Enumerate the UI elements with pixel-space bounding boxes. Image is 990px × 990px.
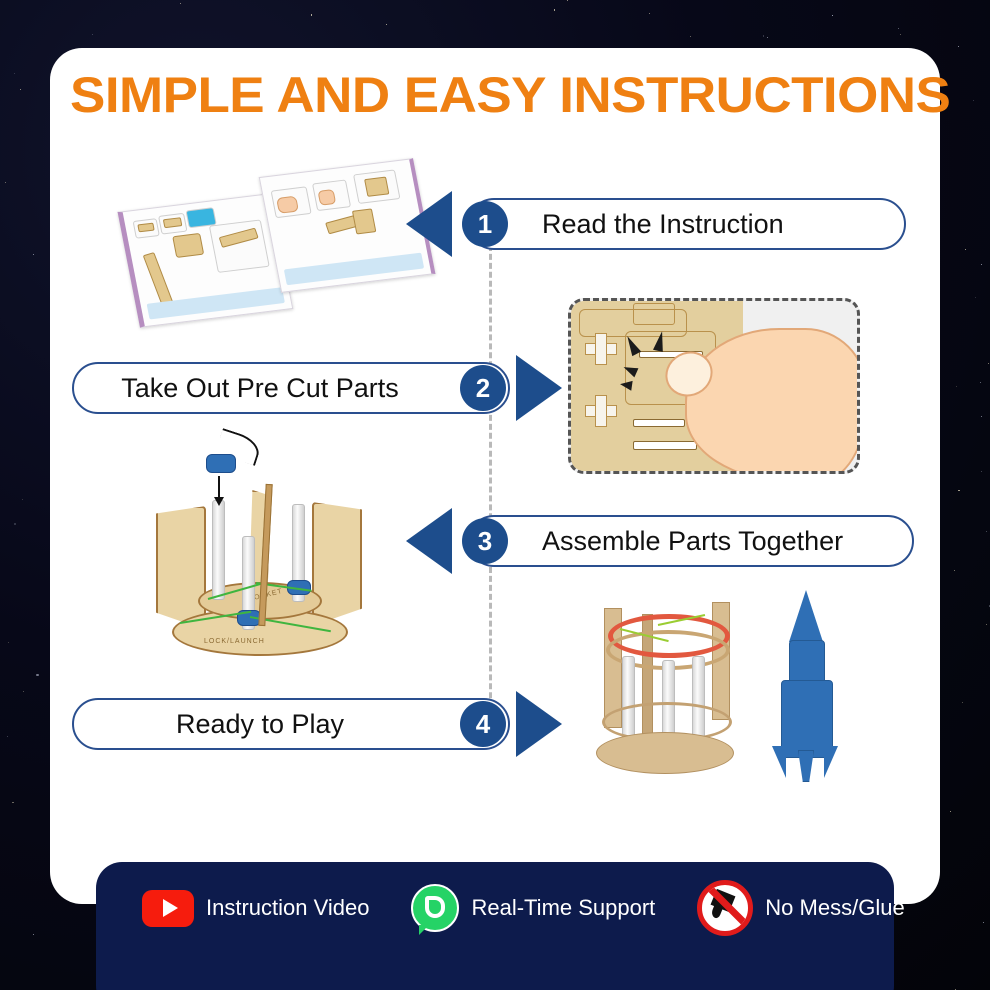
- footer-label-instruction-video: Instruction Video: [206, 895, 369, 921]
- dashed-frame: [568, 298, 860, 474]
- youtube-icon: [142, 890, 194, 927]
- launcher-assembly-diagram: LOCK/LAUNCH ROCKET: [152, 432, 384, 690]
- step-3-arrow: [406, 508, 452, 574]
- footer-item-no-mess-glue[interactable]: No Mess/Glue: [697, 884, 904, 932]
- step-3-pill[interactable]: Assemble Parts Together: [468, 515, 914, 567]
- footer-label-real-time-support: Real-Time Support: [471, 895, 655, 921]
- step-1-arrow: [406, 191, 452, 257]
- step-connector-line: [489, 236, 492, 734]
- tube-left: [212, 500, 225, 600]
- foam-rocket: [776, 590, 836, 780]
- footer-label-no-mess-glue: No Mess/Glue: [765, 895, 904, 921]
- finished-launcher-and-rocket-photo: [586, 574, 860, 786]
- hand-illustration: [685, 328, 860, 474]
- step-3-label: Assemble Parts Together: [542, 526, 843, 557]
- step-4-label: Ready to Play: [176, 709, 344, 740]
- step-2-arrow: [516, 355, 562, 421]
- no-glue-icon: [697, 880, 753, 936]
- launcher-base: [596, 732, 734, 774]
- step-2-label: Take Out Pre Cut Parts: [121, 373, 399, 404]
- footer-item-real-time-support[interactable]: Real-Time Support: [411, 884, 655, 932]
- hand-punching-precut-part-illustration: [568, 298, 860, 474]
- step-3-badge: 3: [462, 518, 508, 564]
- whatsapp-icon: [411, 884, 459, 932]
- step-4-badge: 4: [460, 701, 506, 747]
- base-label-lock-launch: LOCK/LAUNCH: [204, 638, 265, 645]
- step-1-pill[interactable]: Read the Instruction: [468, 198, 906, 250]
- step-4-arrow: [516, 691, 562, 757]
- footer-item-instruction-video[interactable]: Instruction Video: [142, 884, 369, 932]
- step-2-pill[interactable]: Take Out Pre Cut Parts: [72, 362, 510, 414]
- page-title: SIMPLE AND EASY INSTRUCTIONS: [70, 66, 982, 124]
- step-4-pill[interactable]: Ready to Play: [72, 698, 510, 750]
- step-1-badge: 1: [462, 201, 508, 247]
- step-2-badge: 2: [460, 365, 506, 411]
- launcher-panel-left: [156, 506, 206, 630]
- instruction-booklet-photo: [118, 162, 418, 332]
- footer-bar: Instruction Video Real-Time Support No M…: [96, 862, 894, 990]
- infographic-stage: SIMPLE AND EASY INSTRUCTIONS: [0, 0, 990, 990]
- launcher-panel-right: [312, 502, 362, 626]
- drop-arrow: [218, 476, 220, 498]
- step-1-label: Read the Instruction: [542, 209, 784, 240]
